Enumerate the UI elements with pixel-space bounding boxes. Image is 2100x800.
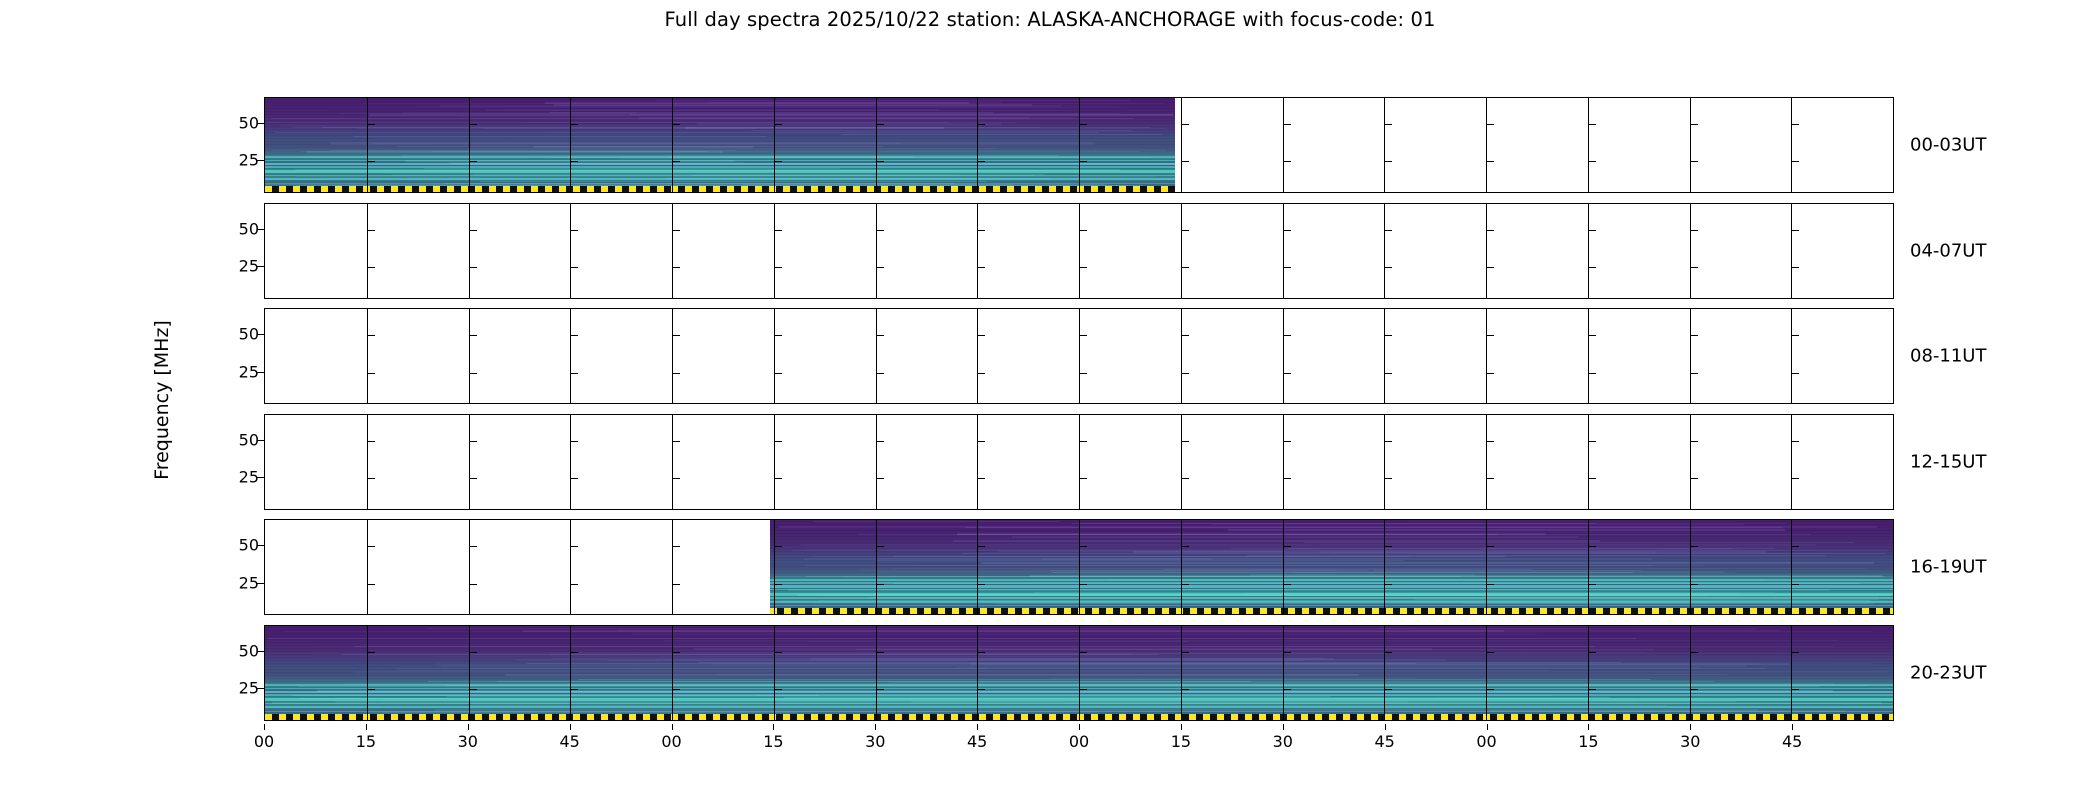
y-tick-mark: [1284, 335, 1291, 336]
panel-divider: [1690, 98, 1691, 192]
row-label-04-07ut: 04-07UT: [1910, 240, 1986, 261]
y-tick-mark: [978, 230, 985, 231]
y-tick-mark: [673, 652, 680, 653]
panel-divider: [1384, 520, 1385, 614]
y-tick-mark: [978, 373, 985, 374]
y-tick-mark: [470, 689, 477, 690]
spectral-noise: [307, 151, 723, 153]
y-tick-mark: [673, 478, 680, 479]
coverage-marker-strip: [770, 608, 1893, 614]
y-tick-mark: [877, 373, 884, 374]
y-tick-mark: [775, 373, 782, 374]
panel-divider: [1486, 520, 1487, 614]
spectral-noise: [272, 702, 1882, 704]
spectral-noise: [473, 174, 1043, 176]
spectral-noise: [660, 656, 1071, 657]
y-tick-mark: [1284, 124, 1291, 125]
y-tick-mark: [368, 441, 375, 442]
panel-divider: [672, 98, 673, 192]
spectral-noise: [877, 571, 1724, 572]
spectral-noise: [800, 544, 1815, 545]
y-tick-mark: [877, 335, 884, 336]
y-tick-mark: [1691, 230, 1698, 231]
spectral-noise: [1319, 551, 1657, 553]
panel-divider: [1181, 520, 1182, 614]
panel-divider: [1791, 520, 1792, 614]
panel-divider: [1588, 204, 1589, 298]
spectral-noise: [804, 558, 1212, 559]
y-tick-mark: [368, 230, 375, 231]
spectral-noise: [382, 711, 1099, 712]
y-tick-mark: [470, 478, 477, 479]
row-label-20-23ut: 20-23UT: [1910, 663, 1986, 684]
y-tick-label: 25: [239, 679, 259, 698]
spectral-noise: [957, 534, 1498, 535]
spectral-noise: [523, 630, 1504, 631]
spectral-noise: [271, 118, 1134, 119]
y-tick-mark: [978, 478, 985, 479]
y-tick-mark: [1792, 161, 1799, 162]
spectral-noise: [354, 671, 1887, 673]
spectral-noise: [1109, 579, 1765, 580]
spectral-noise: [441, 665, 1746, 666]
y-tick-mark: [1182, 124, 1189, 125]
spectral-noise: [299, 157, 526, 158]
x-tick-label: 15: [356, 732, 376, 751]
panel-divider: [469, 204, 470, 298]
spectral-band: [770, 597, 1893, 599]
y-tick-mark: [470, 584, 477, 585]
panel-divider: [1384, 204, 1385, 298]
y-tick-mark: [368, 161, 375, 162]
y-tick-mark: [978, 124, 985, 125]
spectral-noise: [774, 576, 1461, 577]
y-tick-mark: [1385, 441, 1392, 442]
spectral-noise: [295, 169, 1120, 170]
panel-divider: [672, 309, 673, 403]
y-tick-mark: [775, 689, 782, 690]
y-tick-mark: [1487, 441, 1494, 442]
spectral-noise: [1050, 570, 1369, 571]
spectral-noise: [533, 146, 752, 148]
panel-divider: [1079, 415, 1080, 509]
spectral-noise: [630, 114, 1173, 115]
y-tick-mark: [1691, 267, 1698, 268]
spectral-band: [770, 605, 1893, 607]
y-tick-mark: [1385, 652, 1392, 653]
y-tick-mark: [1284, 478, 1291, 479]
y-tick-mark: [1691, 335, 1698, 336]
panel-divider: [367, 520, 368, 614]
spectral-noise: [364, 103, 1163, 104]
x-tick-mark: [366, 724, 367, 730]
spectral-noise: [607, 660, 1304, 661]
spectral-noise: [340, 113, 1120, 114]
y-tick-mark: [1487, 546, 1494, 547]
spectral-noise: [373, 143, 901, 144]
spectral-noise: [428, 681, 1251, 682]
spectral-noise: [994, 603, 1869, 604]
spectral-noise: [1030, 575, 1882, 576]
spectral-noise: [527, 122, 1016, 124]
panel-divider: [570, 204, 571, 298]
spectral-noise: [811, 658, 1334, 659]
y-tick-mark: [368, 689, 375, 690]
spectral-noise: [869, 597, 1890, 598]
spectral-noise: [505, 674, 1360, 675]
spectral-noise: [275, 132, 1099, 133]
y-tick-mark: [1487, 652, 1494, 653]
y-tick-mark: [571, 652, 578, 653]
y-tick-mark: [877, 652, 884, 653]
y-tick-mark: [978, 335, 985, 336]
spectral-noise: [300, 698, 1589, 699]
y-tick-mark: [1182, 652, 1189, 653]
spectral-noise: [858, 534, 1811, 535]
spectral-noise: [894, 556, 1505, 557]
spectral-noise: [965, 527, 1783, 528]
x-tick-label: 00: [1476, 732, 1496, 751]
y-tick-mark: [673, 267, 680, 268]
x-tick-mark: [1283, 724, 1284, 730]
panel-divider: [1588, 626, 1589, 720]
panel-frame: [264, 203, 1894, 299]
spectral-band: [265, 183, 1175, 185]
spectral-noise: [322, 127, 1152, 128]
panel-divider: [1283, 204, 1284, 298]
y-tick-mark: [877, 124, 884, 125]
spectral-noise: [486, 109, 938, 111]
y-tick-mark: [1691, 584, 1698, 585]
y-tick-mark: [673, 161, 680, 162]
y-tick-mark: [1080, 546, 1087, 547]
y-tick-mark: [1589, 161, 1596, 162]
spectral-noise: [579, 679, 1651, 680]
panel-divider: [1486, 415, 1487, 509]
spectral-noise: [620, 158, 1173, 160]
y-tick-mark: [1385, 478, 1392, 479]
panel-divider: [774, 415, 775, 509]
panel-frame: [264, 519, 1894, 615]
y-tick-mark: [1589, 478, 1596, 479]
panel-divider: [1486, 204, 1487, 298]
y-tick-mark: [1487, 230, 1494, 231]
spectral-noise: [894, 568, 1866, 569]
y-tick-mark: [571, 161, 578, 162]
y-tick-mark: [775, 124, 782, 125]
y-tick-mark: [1080, 124, 1087, 125]
x-tick-label: 30: [458, 732, 478, 751]
y-tick-mark: [1284, 689, 1291, 690]
spectral-noise: [364, 712, 797, 713]
panel-divider: [774, 309, 775, 403]
panel-divider: [570, 626, 571, 720]
panel-divider: [1588, 309, 1589, 403]
y-tick-mark: [978, 584, 985, 585]
y-tick-mark: [1284, 267, 1291, 268]
panel-divider: [469, 98, 470, 192]
panel-divider: [570, 309, 571, 403]
spectral-noise: [480, 181, 986, 182]
spectral-noise: [281, 125, 975, 127]
y-tick-mark: [1080, 267, 1087, 268]
panel-divider: [977, 309, 978, 403]
panel-divider: [1791, 626, 1792, 720]
spectral-noise: [856, 649, 1653, 650]
row-label-12-15ut: 12-15UT: [1910, 451, 1986, 472]
y-tick-mark: [1284, 441, 1291, 442]
spectral-noise: [882, 558, 1332, 559]
y-tick-mark: [1589, 546, 1596, 547]
y-tick-mark: [1385, 584, 1392, 585]
y-tick-mark: [470, 124, 477, 125]
spectral-noise: [296, 176, 1155, 177]
y-tick-mark: [571, 584, 578, 585]
spectral-noise: [335, 701, 1737, 702]
spectral-band: [265, 160, 1175, 162]
spectral-noise: [406, 177, 998, 178]
panel-divider: [367, 626, 368, 720]
y-tick-mark: [1080, 478, 1087, 479]
spectral-noise: [1012, 536, 1579, 537]
y-tick-mark: [571, 546, 578, 547]
spectral-noise: [550, 654, 1132, 655]
y-tick-mark: [470, 161, 477, 162]
y-tick-mark: [1487, 478, 1494, 479]
spectrogram-panel[interactable]: 5025: [264, 625, 1894, 721]
y-tick-mark: [775, 230, 782, 231]
spectral-band: [770, 589, 1893, 590]
spectral-noise: [268, 638, 1636, 639]
panel-divider: [1283, 626, 1284, 720]
spectral-noise: [1463, 603, 1874, 604]
y-tick-mark: [1589, 267, 1596, 268]
y-tick-mark: [1487, 161, 1494, 162]
y-tick-mark: [673, 546, 680, 547]
y-tick-mark: [673, 373, 680, 374]
spectral-noise: [330, 150, 736, 151]
spectral-noise: [808, 641, 1188, 642]
panel-frame: [264, 625, 1894, 721]
y-tick-mark: [1080, 584, 1087, 585]
page-title: Full day spectra 2025/10/22 station: ALA…: [0, 8, 2100, 31]
panel-divider: [1791, 309, 1792, 403]
spectrogram-panel[interactable]: 5025: [264, 519, 1894, 615]
panel-divider: [1384, 415, 1385, 509]
spectrogram-panel[interactable]: 5025: [264, 203, 1894, 299]
y-tick-mark: [470, 230, 477, 231]
panel-divider: [469, 520, 470, 614]
x-tick-label: 45: [559, 732, 579, 751]
y-tick-label: 50: [239, 641, 259, 660]
spectral-noise: [970, 663, 1789, 665]
y-tick-mark: [877, 230, 884, 231]
spectrogram-panel[interactable]: 5025: [264, 308, 1894, 404]
y-tick-mark: [1385, 230, 1392, 231]
y-axis-label: Frequency [MHz]: [151, 320, 173, 480]
x-tick-label: 45: [967, 732, 987, 751]
spectral-noise: [792, 550, 1889, 551]
spectral-noise: [451, 163, 1173, 164]
y-tick-mark: [1792, 478, 1799, 479]
spectral-noise: [913, 565, 1703, 566]
spectral-noise: [354, 646, 1595, 647]
spectral-noise: [545, 102, 969, 103]
y-tick-mark: [470, 652, 477, 653]
x-tick-mark: [773, 724, 774, 730]
y-tick-mark: [470, 441, 477, 442]
spectral-noise: [656, 100, 1130, 101]
spectral-noise: [664, 640, 1838, 641]
y-tick-mark: [571, 478, 578, 479]
spectral-noise: [788, 589, 1831, 590]
panel-divider: [1079, 204, 1080, 298]
spectral-noise: [822, 595, 1708, 596]
y-tick-mark: [1284, 161, 1291, 162]
y-tick-mark: [1691, 478, 1698, 479]
panel-divider: [672, 415, 673, 509]
spectral-noise: [446, 685, 1867, 686]
spectral-noise: [1482, 596, 1878, 598]
y-tick-mark: [1385, 124, 1392, 125]
spectral-noise: [397, 146, 883, 147]
y-tick-mark: [1691, 689, 1698, 690]
y-tick-mark: [368, 373, 375, 374]
panel-divider: [1791, 98, 1792, 192]
y-tick-mark: [1182, 267, 1189, 268]
spectral-noise: [328, 107, 1126, 108]
x-tick-label: 00: [661, 732, 681, 751]
panel-divider: [774, 98, 775, 192]
panel-divider: [1791, 415, 1792, 509]
spectral-noise: [953, 540, 1600, 542]
spectral-noise: [709, 102, 1002, 103]
spectral-noise: [440, 105, 1061, 106]
spectral-noise: [639, 117, 1030, 118]
spectral-noise: [345, 683, 1834, 684]
spectral-noise: [470, 668, 1765, 669]
panel-divider: [469, 626, 470, 720]
x-tick-mark: [672, 724, 673, 730]
spectral-noise: [911, 701, 1409, 702]
spectral-noise: [669, 156, 915, 157]
panel-divider: [1079, 98, 1080, 192]
y-tick-label: 25: [239, 256, 259, 275]
spectral-noise: [666, 178, 1050, 179]
panel-divider: [1384, 98, 1385, 192]
y-tick-mark: [1487, 335, 1494, 336]
spectral-noise: [369, 114, 1173, 115]
coverage-marker-strip: [265, 186, 1175, 192]
y-tick-mark: [1284, 373, 1291, 374]
y-tick-mark: [1792, 124, 1799, 125]
y-tick-mark: [368, 267, 375, 268]
y-tick-mark: [1080, 161, 1087, 162]
y-tick-mark: [470, 267, 477, 268]
y-tick-mark: [1691, 546, 1698, 547]
spectrogram-panel[interactable]: 5025: [264, 414, 1894, 510]
spectral-noise: [803, 549, 1741, 550]
y-tick-mark: [1385, 689, 1392, 690]
spectral-noise: [889, 682, 1486, 683]
spectral-noise: [632, 633, 1537, 635]
spectral-noise: [1246, 593, 1739, 594]
spectral-band: [265, 166, 1175, 167]
y-tick-mark: [1080, 441, 1087, 442]
spectral-noise: [318, 646, 1833, 647]
spectral-noise: [1213, 524, 1744, 525]
panel-divider: [876, 626, 877, 720]
panel-divider: [367, 415, 368, 509]
panel-divider: [1791, 204, 1792, 298]
row-label-08-11ut: 08-11UT: [1910, 346, 1986, 367]
spectral-noise: [1415, 599, 1879, 600]
spectral-noise: [962, 553, 1886, 554]
spectral-band: [265, 156, 1175, 158]
y-tick-mark: [775, 546, 782, 547]
spectral-noise: [353, 136, 766, 137]
spectral-noise: [554, 104, 1032, 106]
spectral-band: [770, 579, 1893, 581]
panel-divider: [1486, 98, 1487, 192]
spectral-noise: [814, 521, 1060, 522]
row-label-00-03ut: 00-03UT: [1910, 135, 1986, 156]
y-tick-mark: [1284, 546, 1291, 547]
spectral-noise: [694, 648, 1433, 650]
spectral-noise: [806, 565, 1653, 566]
y-tick-mark: [1691, 124, 1698, 125]
spectral-noise: [395, 670, 1547, 671]
spectral-noise: [317, 690, 1833, 692]
y-tick-label: 50: [239, 536, 259, 555]
y-tick-mark: [1589, 652, 1596, 653]
y-tick-mark: [1080, 230, 1087, 231]
panel-divider: [1079, 626, 1080, 720]
panel-frame: [264, 308, 1894, 404]
spectral-noise: [1293, 572, 1736, 573]
panel-frame: [264, 97, 1894, 193]
y-tick-mark: [673, 441, 680, 442]
y-tick-mark: [1487, 373, 1494, 374]
x-tick-label: 45: [1782, 732, 1802, 751]
y-tick-mark: [368, 335, 375, 336]
spectral-noise: [957, 533, 1546, 534]
y-tick-mark: [368, 478, 375, 479]
spectral-noise: [1065, 703, 1435, 705]
spectral-noise: [438, 663, 1759, 665]
spectral-noise: [751, 130, 1132, 132]
spectral-noise: [569, 701, 1711, 703]
y-tick-mark: [978, 441, 985, 442]
y-tick-label: 50: [239, 113, 259, 132]
y-tick-mark: [1792, 546, 1799, 547]
spectrogram-panel[interactable]: 5025: [264, 97, 1894, 193]
panel-divider: [1283, 309, 1284, 403]
x-tick-label: 15: [1171, 732, 1191, 751]
panel-divider: [672, 520, 673, 614]
panel-divider: [1690, 204, 1691, 298]
panel-divider: [977, 98, 978, 192]
spectral-noise: [391, 174, 959, 176]
panel-divider: [1283, 98, 1284, 192]
spectral-noise: [770, 556, 1892, 557]
panel-divider: [570, 415, 571, 509]
y-tick-mark: [1182, 584, 1189, 585]
panel-divider: [1486, 626, 1487, 720]
y-tick-mark: [368, 124, 375, 125]
y-tick-mark: [673, 689, 680, 690]
y-tick-mark: [877, 689, 884, 690]
